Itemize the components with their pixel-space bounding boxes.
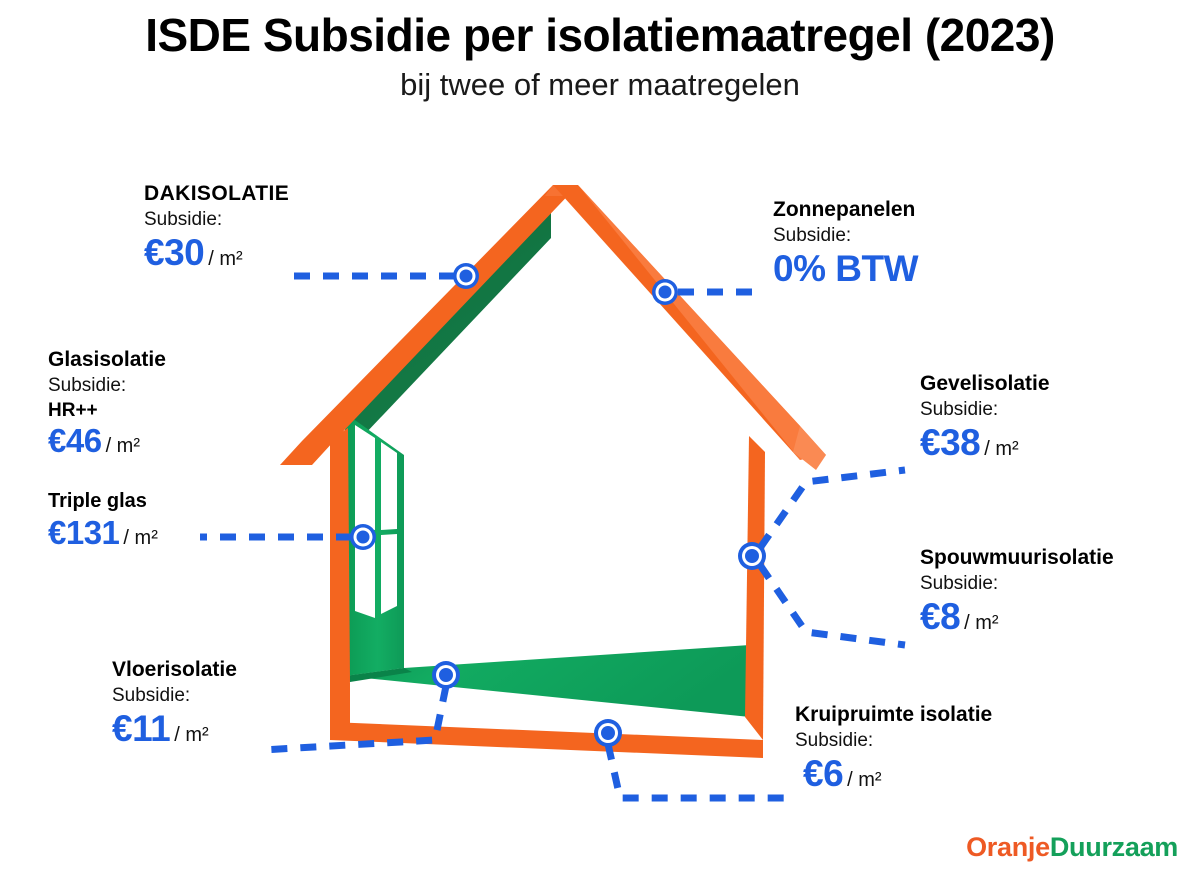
callout-vloerisolatie-unit: / m² [174,724,208,746]
callout-glasisolatie: Glasisolatie Subsidie: HR++ €46/ m² [48,348,166,459]
callout-glasisolatie-unit: / m² [106,435,140,457]
callout-gevelisolatie-unit: / m² [984,438,1018,460]
callout-zonnepanelen-amount-row: 0% BTW [773,250,918,289]
callout-dakisolatie-unit: / m² [208,248,242,270]
callout-zonnepanelen-amount: 0% BTW [773,248,918,289]
roof-left-slope [280,185,578,465]
callout-triple-glas-amount: €131 [48,514,119,551]
callout-gevelisolatie-amount: €38 [920,422,980,463]
callout-spouwmuurisolatie-unit: / m² [964,612,998,634]
callout-kruipruimte-isolatie-category: Kruipruimte isolatie [795,703,992,728]
callout-triple-glas-amount-row: €131/ m² [48,516,158,551]
exterior-right-wall [745,436,765,740]
callout-glasisolatie-amount: €46 [48,422,102,459]
callout-glasisolatie-category: Glasisolatie [48,348,166,373]
callout-gevelisolatie: Gevelisolatie Subsidie: €38/ m² [920,372,1050,462]
callout-kruipruimte-isolatie: Kruipruimte isolatie Subsidie: €6/ m² [795,703,992,793]
callout-kruipruimte-isolatie-amount: €6 [803,753,843,794]
callout-vloerisolatie-amount: €11 [112,708,170,749]
callout-zonnepanelen-subsidie-label: Subsidie: [773,224,918,248]
callout-spouwmuurisolatie-subsidie-label: Subsidie: [920,572,1114,596]
callout-glasisolatie-variant: HR++ [48,399,166,423]
callout-triple-glas-category: Triple glas [48,490,158,514]
callout-kruipruimte-isolatie-subsidie-label: Subsidie: [795,729,992,753]
exterior-left-wall [311,428,350,733]
callout-dakisolatie-amount: €30 [144,232,204,273]
callout-vloerisolatie: Vloerisolatie Subsidie: €11/ m² [112,658,237,748]
callout-dakisolatie-category: DAKISOLATIE [144,182,289,207]
infographic-canvas: ISDE Subsidie per isolatiemaatregel (202… [0,0,1200,881]
callout-glasisolatie-subsidie-label: Subsidie: [48,374,166,398]
brand-logo-part-oranje: Oranje [966,832,1050,862]
callout-kruipruimte-isolatie-unit: / m² [847,769,881,791]
interior-floor [345,645,750,717]
callout-spouwmuurisolatie-amount: €8 [920,596,960,637]
callout-kruipruimte-isolatie-amount-row: €6/ m² [803,755,992,794]
callout-triple-glas-unit: / m² [123,527,157,549]
callout-gevelisolatie-amount-row: €38/ m² [920,424,1050,463]
callout-vloerisolatie-category: Vloerisolatie [112,658,237,683]
callout-spouwmuurisolatie: Spouwmuurisolatie Subsidie: €8/ m² [920,546,1114,636]
brand-logo[interactable]: OranjeDuurzaam [966,832,1178,863]
callout-spouwmuurisolatie-amount-row: €8/ m² [920,598,1114,637]
callout-zonnepanelen-category: Zonnepanelen [773,198,918,223]
callout-gevelisolatie-category: Gevelisolatie [920,372,1050,397]
callout-dakisolatie: DAKISOLATIE Subsidie: €30/ m² [144,182,289,272]
callout-glasisolatie-amount-row: €46/ m² [48,424,166,459]
callout-dakisolatie-amount-row: €30/ m² [144,234,289,273]
brand-logo-part-duurzaam: Duurzaam [1050,832,1178,862]
callout-gevelisolatie-subsidie-label: Subsidie: [920,398,1050,422]
callout-triple-glas: Triple glas €131/ m² [48,490,158,550]
callout-spouwmuurisolatie-category: Spouwmuurisolatie [920,546,1114,571]
callout-vloerisolatie-subsidie-label: Subsidie: [112,684,237,708]
callout-dakisolatie-subsidie-label: Subsidie: [144,208,289,232]
callout-vloerisolatie-amount-row: €11/ m² [112,710,237,749]
callout-zonnepanelen: Zonnepanelen Subsidie: 0% BTW [773,198,918,288]
